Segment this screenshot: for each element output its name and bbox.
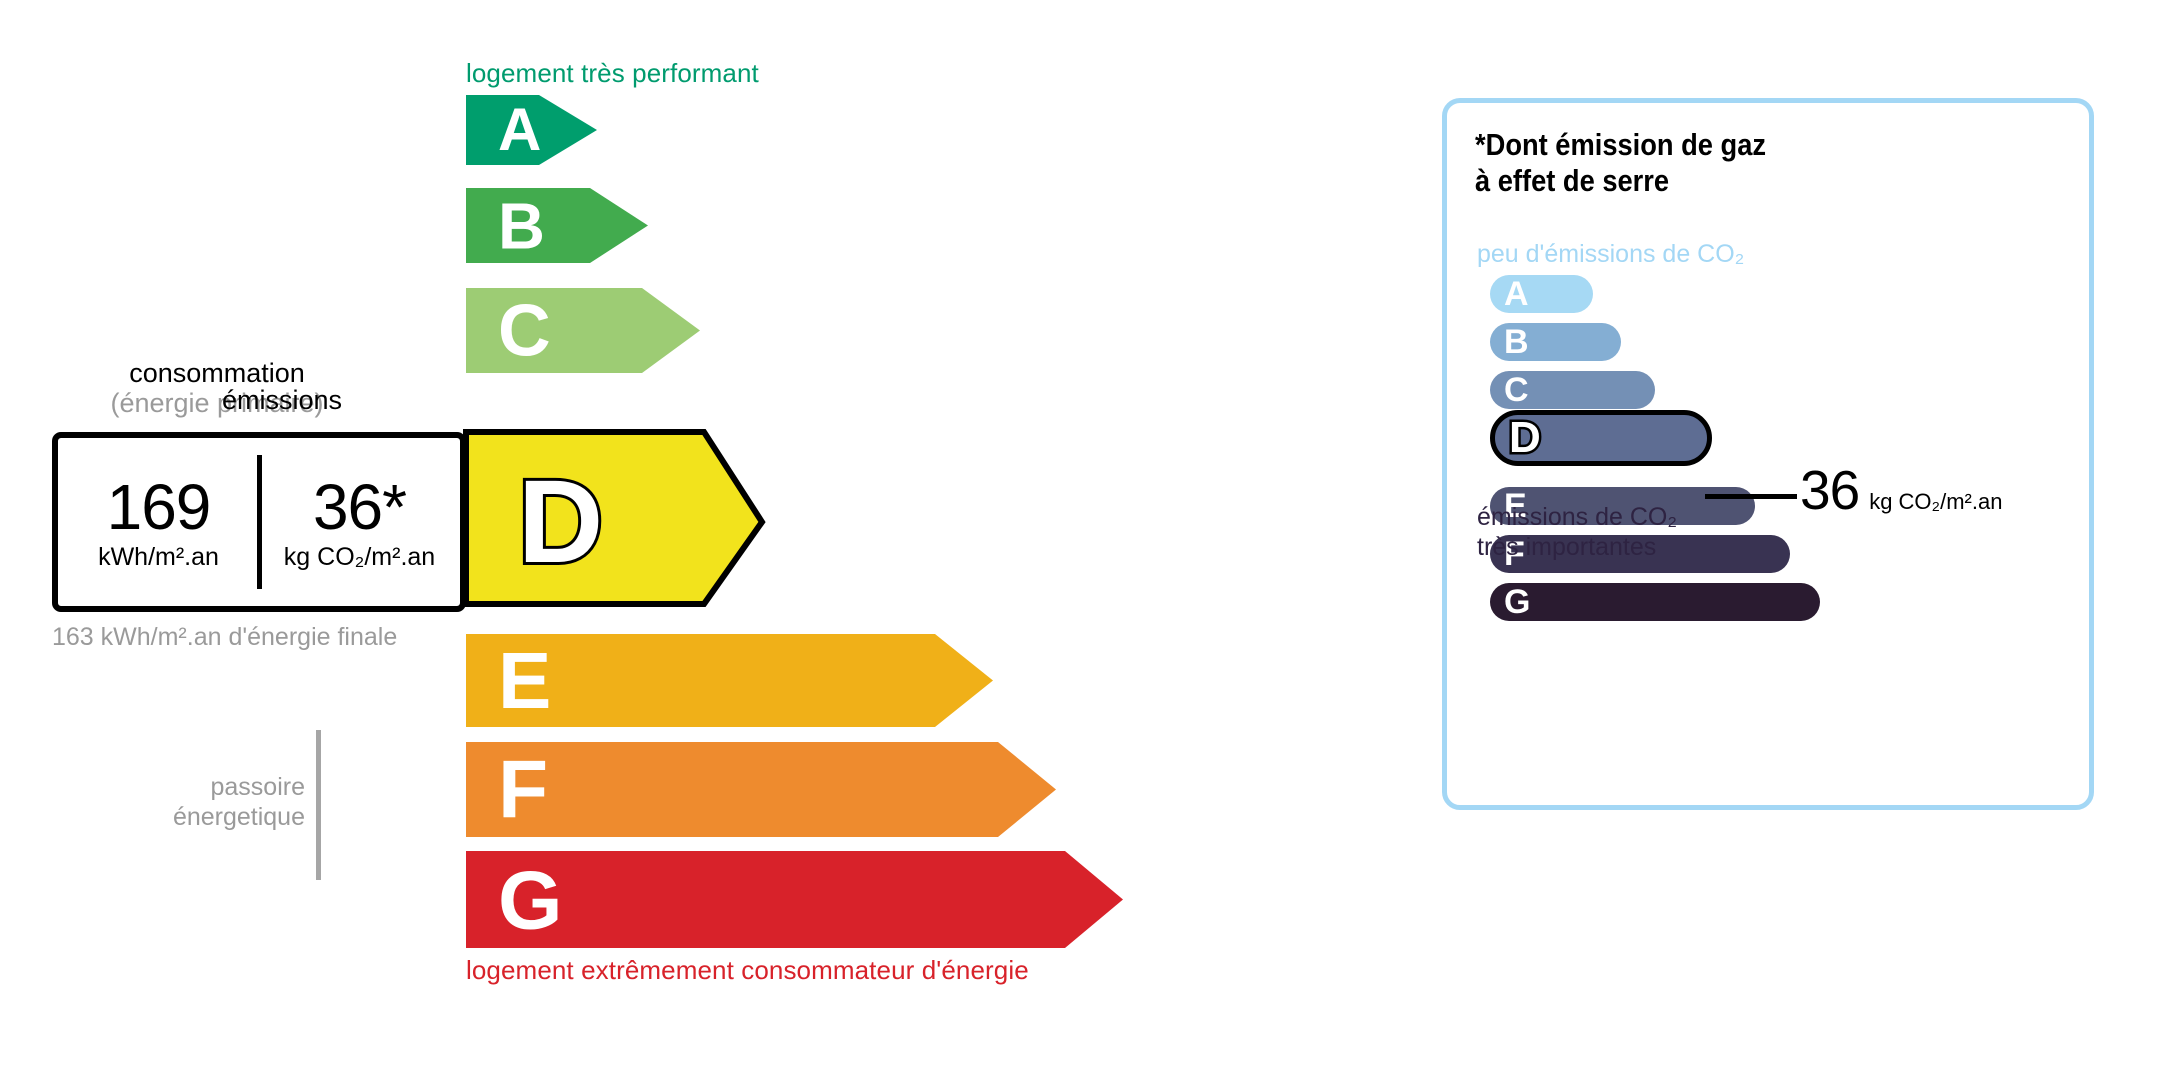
scale-top-label: logement très performant <box>466 58 759 89</box>
co2-callout-value: 36 <box>1800 463 1859 518</box>
co2-bar-a: A <box>1490 275 1593 313</box>
energy-class-row-a: A <box>0 95 1300 165</box>
energy-arrow-letter-c: C <box>498 294 551 367</box>
energy-arrow-g <box>466 851 1133 948</box>
energy-arrow-letter-d: D <box>518 463 603 581</box>
energy-arrow-letter-a: A <box>498 100 541 160</box>
co2-bar-g: G <box>1490 583 1820 621</box>
energy-arrow-letter-f: F <box>498 749 548 831</box>
co2-panel-title: *Dont émission de gaz à effet de serre <box>1475 127 1766 199</box>
emissions-caption: émissions <box>222 385 342 415</box>
energy-class-row-b: B <box>0 188 1300 263</box>
passoire-bracket <box>316 730 321 880</box>
co2-bar-letter-c: C <box>1504 373 1529 407</box>
energy-consumption-cell: 169 kWh/m².an <box>58 438 259 606</box>
co2-emission-cell: 36* kg CO₂/m².an <box>259 438 460 606</box>
energy-arrow-d <box>466 432 768 612</box>
energy-consumption-unit: kWh/m².an <box>98 545 219 570</box>
consumption-caption-main: consommation <box>129 358 305 388</box>
passoire-label: passoire énergetique <box>120 772 305 832</box>
final-energy-note: 163 kWh/m².an d'énergie finale <box>52 622 397 652</box>
consumption-value-box: 169 kWh/m².an 36* kg CO₂/m².an <box>52 432 466 612</box>
energy-arrow-letter-b: B <box>498 193 545 258</box>
co2-bar-c: C <box>1490 371 1655 409</box>
co2-low-emission-label: peu d'émissions de CO₂ <box>1477 240 1744 269</box>
energy-arrow-b <box>466 188 658 263</box>
co2-emission-value: 36* <box>313 475 406 539</box>
co2-high-emission-label: émissions de CO₂ très importantes <box>1477 503 1677 562</box>
co2-bar-letter-a: A <box>1504 277 1529 311</box>
co2-callout-leader-line <box>1705 494 1797 499</box>
energy-arrow-letter-e: E <box>498 641 551 721</box>
co2-bar-d: D <box>1490 410 1712 466</box>
co2-emission-unit: kg CO₂/m².an <box>284 545 435 570</box>
co2-callout: 36 kg CO₂/m².an <box>1800 463 2002 518</box>
scale-bottom-label: logement extrêmement consommateur d'éner… <box>466 955 1029 986</box>
co2-callout-unit: kg CO₂/m².an <box>1869 489 2002 515</box>
co2-bar-letter-g: G <box>1504 585 1530 619</box>
co2-bar-b: B <box>1490 323 1621 361</box>
energy-class-row-g: G <box>0 851 1300 948</box>
co2-bar-letter-d: D <box>1509 416 1541 460</box>
co2-bar-letter-b: B <box>1504 325 1529 359</box>
energy-arrow-f <box>466 742 1066 837</box>
energy-performance-scale: logement très performant ABCDEFG consomm… <box>0 0 1300 1079</box>
energy-arrow-letter-g: G <box>498 858 563 941</box>
energy-consumption-value: 169 <box>107 475 211 539</box>
greenhouse-gas-panel: *Dont émission de gaz à effet de serre p… <box>1442 98 2094 810</box>
